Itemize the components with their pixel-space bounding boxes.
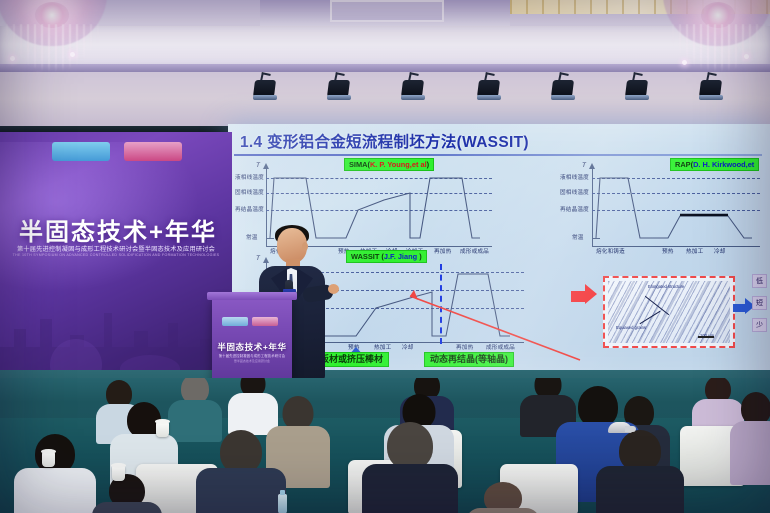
audience-area <box>0 378 770 513</box>
podium-subtitle-2: 暨半固态技术及应用研讨会 <box>212 359 292 363</box>
ceiling-coffer-inner <box>330 0 444 22</box>
logo-semisolid-icon <box>52 142 110 161</box>
stage-light-icon <box>252 78 278 102</box>
backdrop-subtitle: 第十届先进控制凝固与成形工程技术研讨会暨半固态技术及应用研讨会 <box>0 244 232 253</box>
stage-light-icon <box>326 78 352 102</box>
right-note: 短 <box>752 296 767 310</box>
event-backdrop: 半固态技术+年华 第十届先进控制凝固与成形工程技术研讨会暨半固态技术及应用研讨会… <box>0 132 232 378</box>
audience-member <box>92 474 162 513</box>
stage-light-icon <box>400 78 426 102</box>
speaker-hand <box>328 284 339 294</box>
audience-member <box>466 482 540 513</box>
back-wall <box>0 72 770 132</box>
ceiling <box>0 0 770 72</box>
podium-logo-icon <box>222 317 248 326</box>
micrograph-label-top: Elongated structure <box>648 284 684 289</box>
micrograph-image: Elongated structure Equiaxed grains 100 … <box>608 281 730 343</box>
podium: 半固态技术+年华 第十届先进控制凝固与成形工程技术研讨会 暨半固态技术及应用研讨… <box>212 297 292 383</box>
teacup <box>156 422 169 437</box>
stage-light-icon <box>624 78 650 102</box>
audience-member <box>362 422 458 513</box>
backdrop-title: 半固态技术+年华 <box>12 212 224 247</box>
stage-light-icon <box>476 78 502 102</box>
teacup <box>42 452 55 467</box>
logo-foundry-assoc-icon <box>124 142 182 161</box>
podium-logo-icon-2 <box>252 317 278 326</box>
stage-light-icon <box>698 78 724 102</box>
audience-member <box>14 434 96 513</box>
micrograph-label-bottom: Equiaxed grains <box>616 325 646 330</box>
right-note: 低 <box>752 274 767 288</box>
audience-member <box>730 392 770 482</box>
podium-subtitle: 第十届先进控制凝固与成形工程技术研讨会 <box>212 353 292 358</box>
conference-photo: 1.4 变形铝合金短流程制坯方法(WASSIT) SIMA(K. P. Youn… <box>0 0 770 513</box>
speaker-ear <box>302 242 308 251</box>
backdrop-skyline <box>0 273 232 378</box>
backdrop-subtitle-en: THE 10TH SYMPOSIUM ON ADVANCED CONTROLLE… <box>0 253 232 257</box>
water-bottle <box>278 494 287 513</box>
baseball-cap <box>608 422 632 433</box>
audience-member <box>196 430 286 513</box>
podium-title: 半固态技术+年华 <box>212 341 292 353</box>
teacup <box>112 466 125 481</box>
ceiling-light-strip <box>510 0 770 14</box>
stage-light-icon <box>550 78 576 102</box>
audience-member <box>596 430 684 513</box>
micrograph-inset: Elongated structure Equiaxed grains 100 … <box>603 276 735 348</box>
right-note: 少 <box>752 318 767 332</box>
